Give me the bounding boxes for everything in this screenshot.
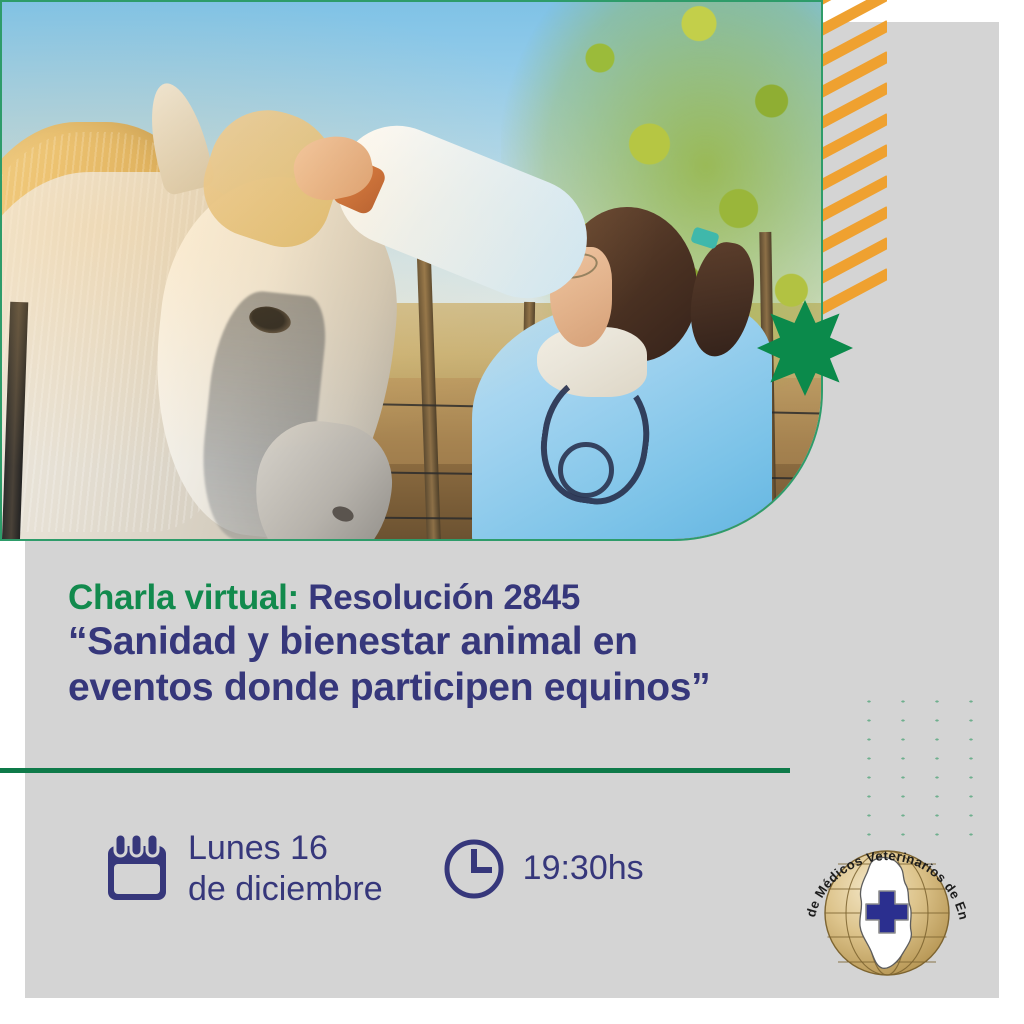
sunlight-glow (2, 2, 821, 539)
hero-photo (0, 0, 823, 541)
headline-accent: Charla virtual: (68, 578, 299, 617)
event-date-line-1: Lunes 16 (188, 828, 383, 869)
hero-photo-scene (2, 2, 821, 539)
institution-logo: Colegio de Médicos Veterinarios de Entre… (797, 813, 977, 993)
green-divider (0, 768, 790, 773)
event-date-line-2: de diciembre (188, 869, 383, 910)
green-eight-point-star-icon (757, 300, 853, 396)
event-info-row: Lunes 16 de diciembre 19:30hs (104, 828, 644, 910)
clock-icon (443, 838, 505, 900)
calendar-icon (104, 832, 170, 906)
headline-line-1-rest: Resolución 2845 (299, 578, 580, 617)
headline-line-1: Charla virtual: Resolución 2845 (68, 578, 788, 619)
headline-line-3: eventos donde participen equinos” (68, 665, 788, 711)
institution-logo-graphic: Colegio de Médicos Veterinarios de Entre… (797, 813, 977, 993)
event-date-text: Lunes 16 de diciembre (188, 828, 383, 910)
poster-root: Charla virtual: Resolución 2845 “Sanidad… (0, 0, 1024, 1024)
event-date: Lunes 16 de diciembre (104, 828, 383, 910)
headline-block: Charla virtual: Resolución 2845 “Sanidad… (68, 578, 788, 710)
headline-line-2: “Sanidad y bienestar animal en (68, 619, 788, 665)
event-time: 19:30hs (443, 838, 644, 900)
event-time-text: 19:30hs (523, 849, 644, 888)
